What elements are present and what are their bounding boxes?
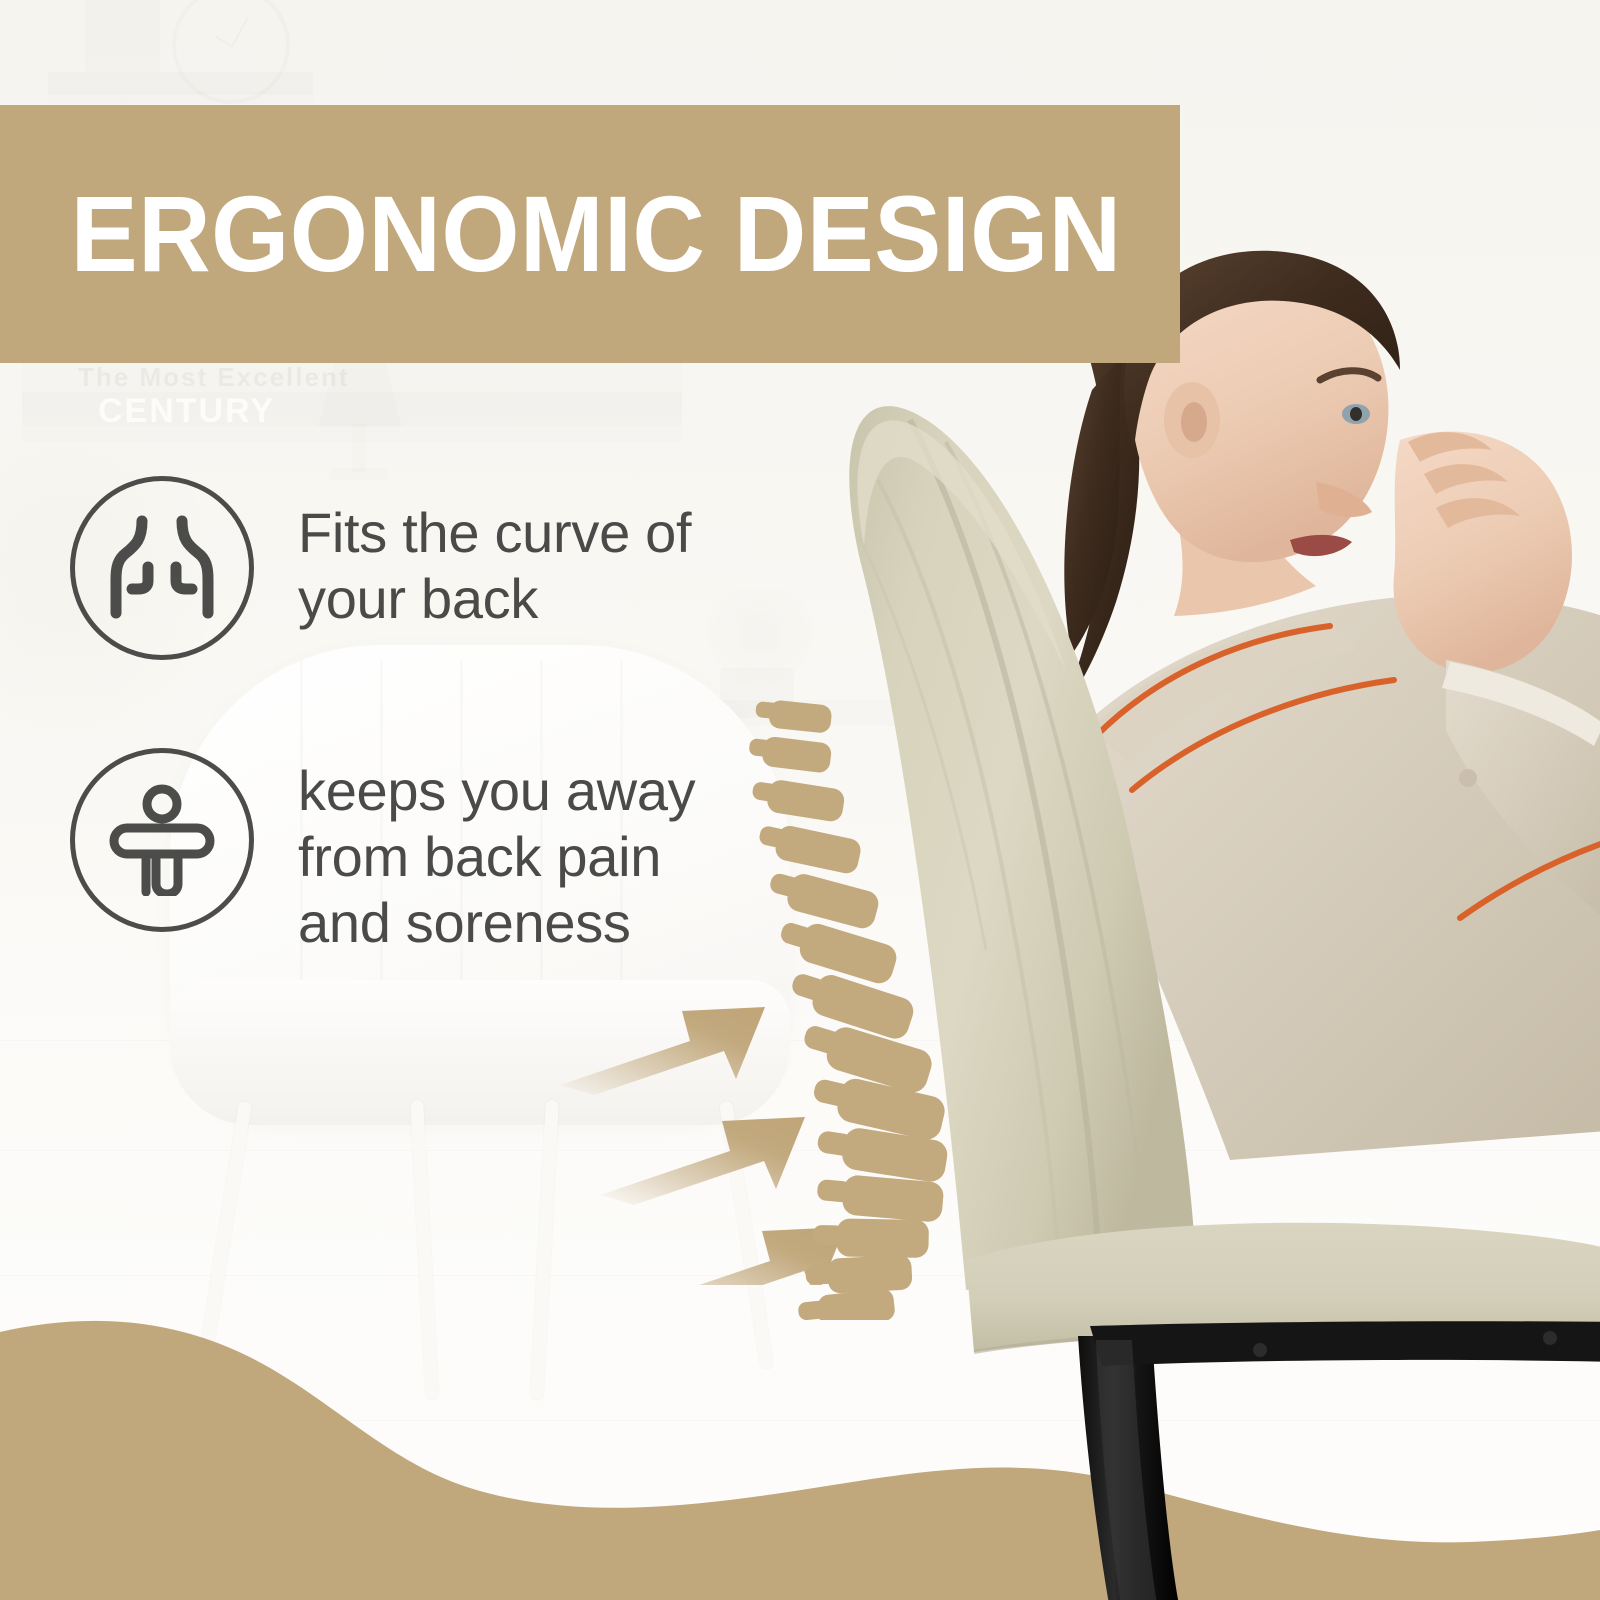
header-banner: ERGONOMIC DESIGN [0, 105, 1180, 363]
ghost-shelf [48, 72, 313, 94]
feature-label: Fits the curve of your back [298, 476, 750, 632]
model-lips [1290, 535, 1352, 556]
product-feature-graphic: The Most Excellent CENTURY [0, 0, 1600, 1600]
chair-leg-bracket [1090, 1321, 1600, 1366]
ghost-poster-line1: The Most Excellent [78, 362, 350, 393]
feature-label: keeps you away from back pain and sorene… [298, 748, 750, 956]
model-pupil [1350, 407, 1362, 421]
shirt-button [1459, 769, 1477, 787]
chair-legs [1078, 1321, 1600, 1600]
product-photo [760, 230, 1600, 1600]
leg-bolt [1253, 1343, 1267, 1357]
feature-list: Fits the curve of your back keeps you aw… [70, 476, 750, 1044]
ghost-shelf [48, 92, 313, 104]
leg-bolt [1543, 1331, 1557, 1345]
lumbar-back-curve-icon [70, 476, 254, 660]
feature-item-back-pain: keeps you away from back pain and sorene… [70, 748, 750, 956]
ghost-lamp-stem [352, 424, 366, 472]
model-ear-inner [1181, 402, 1207, 442]
ghost-book [85, 0, 160, 72]
page-title: ERGONOMIC DESIGN [0, 180, 1122, 288]
person-accessibility-icon [70, 748, 254, 932]
ghost-poster-line2: CENTURY [98, 392, 275, 431]
feature-item-fits-curve: Fits the curve of your back [70, 476, 750, 660]
